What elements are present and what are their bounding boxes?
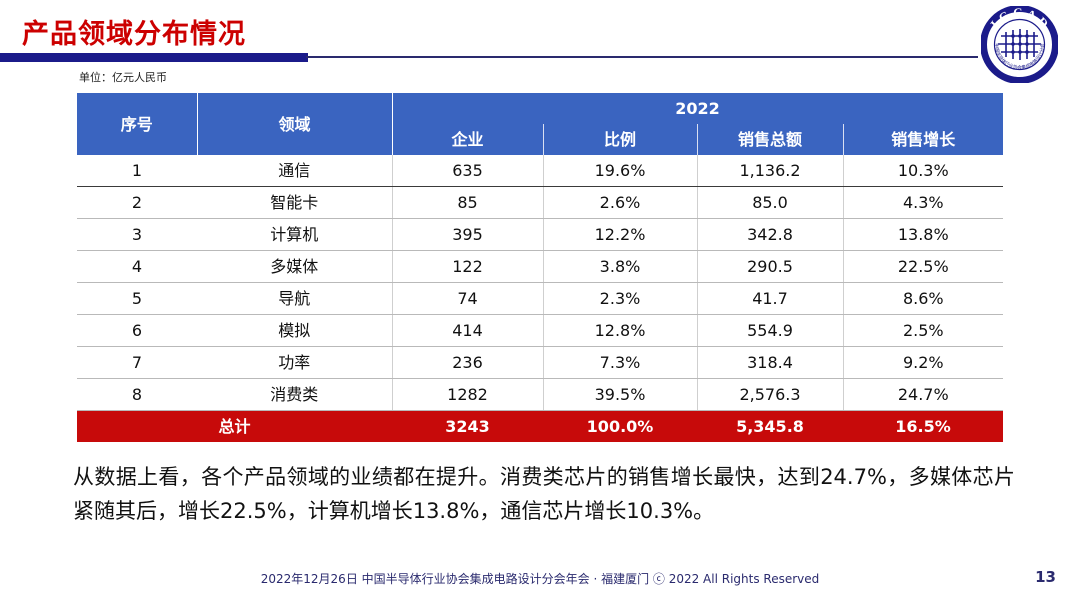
iccad-logo: I C C A D 中国半导体行业协会集成电路设计分会 xyxy=(981,6,1058,83)
cell-sales: 554.9 xyxy=(697,315,843,347)
cell-share: 12.8% xyxy=(543,315,697,347)
cell-sales: 318.4 xyxy=(697,347,843,379)
cell-total-growth: 16.5% xyxy=(843,411,1003,443)
col-header-year-group: 2022 xyxy=(392,93,1003,124)
cell-field: 智能卡 xyxy=(197,187,392,219)
cell-enterprises: 122 xyxy=(392,251,543,283)
cell-growth: 8.6% xyxy=(843,283,1003,315)
cell-enterprises: 1282 xyxy=(392,379,543,411)
title-rule-line xyxy=(306,56,978,58)
page-number: 13 xyxy=(1035,568,1056,586)
cell-no: 1 xyxy=(77,155,197,187)
table-row: 4 多媒体 122 3.8% 290.5 22.5% xyxy=(77,251,1003,283)
table-row: 5 导航 74 2.3% 41.7 8.6% xyxy=(77,283,1003,315)
analysis-paragraph: 从数据上看，各个产品领域的业绩都在提升。消费类芯片的销售增长最快，达到24.7%… xyxy=(73,460,1015,528)
cell-enterprises: 74 xyxy=(392,283,543,315)
cell-field: 计算机 xyxy=(197,219,392,251)
cell-enterprises: 85 xyxy=(392,187,543,219)
cell-enterprises: 395 xyxy=(392,219,543,251)
cell-field: 导航 xyxy=(197,283,392,315)
cell-sales: 1,136.2 xyxy=(697,155,843,187)
page-title: 产品领域分布情况 xyxy=(22,12,246,51)
table-row: 2 智能卡 85 2.6% 85.0 4.3% xyxy=(77,187,1003,219)
cell-total-label: 总计 xyxy=(77,411,392,443)
cell-share: 2.3% xyxy=(543,283,697,315)
cell-growth: 9.2% xyxy=(843,347,1003,379)
cell-no: 6 xyxy=(77,315,197,347)
cell-no: 3 xyxy=(77,219,197,251)
cell-enterprises: 414 xyxy=(392,315,543,347)
cell-sales: 85.0 xyxy=(697,187,843,219)
table-header: 序号 领域 2022 企业 比例 销售总额 销售增长 xyxy=(77,93,1003,155)
cell-share: 19.6% xyxy=(543,155,697,187)
cell-growth: 22.5% xyxy=(843,251,1003,283)
cell-no: 5 xyxy=(77,283,197,315)
cell-field: 功率 xyxy=(197,347,392,379)
cell-growth: 10.3% xyxy=(843,155,1003,187)
cell-share: 2.6% xyxy=(543,187,697,219)
cell-field: 通信 xyxy=(197,155,392,187)
cell-enterprises: 635 xyxy=(392,155,543,187)
cell-field: 模拟 xyxy=(197,315,392,347)
cell-growth: 2.5% xyxy=(843,315,1003,347)
cell-growth: 24.7% xyxy=(843,379,1003,411)
unit-note: 单位：亿元人民币 xyxy=(79,69,167,85)
cell-share: 7.3% xyxy=(543,347,697,379)
iccad-logo-icon: I C C A D 中国半导体行业协会集成电路设计分会 xyxy=(981,6,1058,83)
cell-total-enterprises: 3243 xyxy=(392,411,543,443)
cell-no: 8 xyxy=(77,379,197,411)
footer-text: 2022年12月26日 中国半导体行业协会集成电路设计分会年会 · 福建厦门 ⓒ… xyxy=(0,570,1080,587)
title-accent-bar xyxy=(0,53,308,62)
table-row: 8 消费类 1282 39.5% 2,576.3 24.7% xyxy=(77,379,1003,411)
cell-no: 2 xyxy=(77,187,197,219)
cell-growth: 13.8% xyxy=(843,219,1003,251)
col-header-field: 领域 xyxy=(197,93,392,155)
table-row: 7 功率 236 7.3% 318.4 9.2% xyxy=(77,347,1003,379)
col-header-share: 比例 xyxy=(543,124,697,155)
cell-no: 7 xyxy=(77,347,197,379)
cell-sales: 342.8 xyxy=(697,219,843,251)
col-header-enterprises: 企业 xyxy=(392,124,543,155)
cell-sales: 2,576.3 xyxy=(697,379,843,411)
table-body: 1 通信 635 19.6% 1,136.2 10.3% 2 智能卡 85 2.… xyxy=(77,155,1003,442)
cell-share: 12.2% xyxy=(543,219,697,251)
table-header-row-group: 序号 领域 2022 xyxy=(77,93,1003,124)
col-header-growth: 销售增长 xyxy=(843,124,1003,155)
cell-no: 4 xyxy=(77,251,197,283)
cell-share: 39.5% xyxy=(543,379,697,411)
table-row: 6 模拟 414 12.8% 554.9 2.5% xyxy=(77,315,1003,347)
cell-field: 多媒体 xyxy=(197,251,392,283)
cell-sales: 290.5 xyxy=(697,251,843,283)
cell-growth: 4.3% xyxy=(843,187,1003,219)
cell-field: 消费类 xyxy=(197,379,392,411)
col-header-no: 序号 xyxy=(77,93,197,155)
cell-share: 3.8% xyxy=(543,251,697,283)
cell-sales: 41.7 xyxy=(697,283,843,315)
col-header-sales: 销售总额 xyxy=(697,124,843,155)
cell-total-share: 100.0% xyxy=(543,411,697,443)
product-domain-table: 序号 领域 2022 企业 比例 销售总额 销售增长 1 通信 635 19.6… xyxy=(77,93,1004,442)
table-row: 3 计算机 395 12.2% 342.8 13.8% xyxy=(77,219,1003,251)
table-total-row: 总计 3243 100.0% 5,345.8 16.5% xyxy=(77,411,1003,443)
cell-total-sales: 5,345.8 xyxy=(697,411,843,443)
table-row: 1 通信 635 19.6% 1,136.2 10.3% xyxy=(77,155,1003,187)
cell-enterprises: 236 xyxy=(392,347,543,379)
